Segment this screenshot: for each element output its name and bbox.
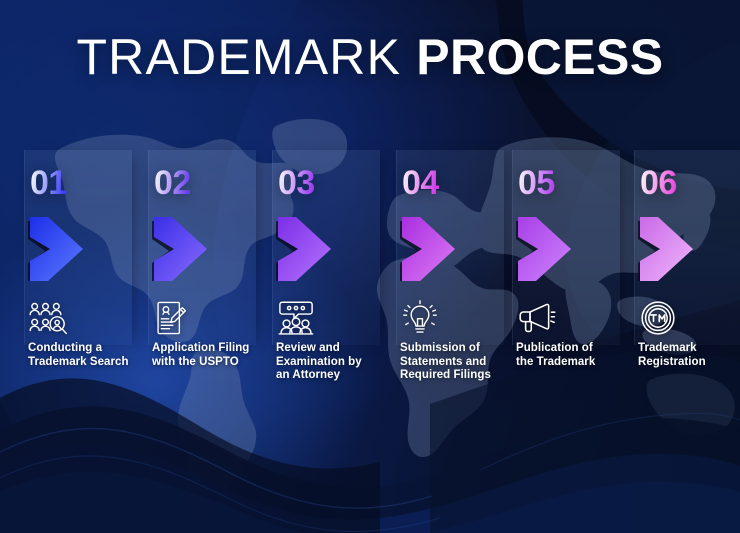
title-light-word: TRADEMARK: [76, 29, 401, 85]
step-number-03: 03: [278, 164, 315, 203]
step-label-04: Submission ofStatements andRequired Fili…: [400, 342, 520, 383]
process-step-01[interactable]: 01 Conduct: [24, 150, 148, 400]
step-arrow-04: [398, 216, 460, 282]
process-step-06[interactable]: 06 TrademarkRegistration: [634, 150, 740, 400]
process-step-04[interactable]: 04 Submission ofStatements andRequired: [396, 150, 520, 400]
step-label-05: Publication ofthe Trademark: [516, 342, 636, 369]
step-arrow-02: [150, 216, 212, 282]
step-label-03: Review andExamination byan Attorney: [276, 342, 396, 383]
tm-circle-icon: [638, 300, 678, 336]
step-label-01: Conducting aTrademark Search: [28, 342, 148, 369]
step-number-02: 02: [154, 164, 191, 203]
document-pen-icon: [152, 300, 192, 336]
infographic-canvas: TRADEMARK PROCESS 01: [0, 0, 740, 533]
title-bold-word: PROCESS: [416, 29, 663, 85]
review-discussion-icon: [276, 300, 316, 336]
page-title: TRADEMARK PROCESS: [0, 29, 740, 85]
step-number-05: 05: [518, 164, 555, 203]
lightbulb-icon: [400, 300, 440, 336]
process-step-02[interactable]: 02 Application Filingwith the U: [148, 150, 272, 400]
step-number-04: 04: [402, 164, 439, 203]
step-arrow-03: [274, 216, 336, 282]
step-label-02: Application Filingwith the USPTO: [152, 342, 272, 369]
process-step-05[interactable]: 05 Publication ofthe Trademark: [512, 150, 636, 400]
step-arrow-06: [636, 216, 698, 282]
step-label-06: TrademarkRegistration: [638, 342, 740, 369]
megaphone-icon: [516, 300, 556, 336]
step-arrow-05: [514, 216, 576, 282]
step-number-01: 01: [30, 164, 67, 203]
step-arrow-01: [26, 216, 88, 282]
process-step-03[interactable]: 03 Review: [272, 150, 396, 400]
people-search-icon: [28, 300, 68, 336]
step-number-06: 06: [640, 164, 677, 203]
